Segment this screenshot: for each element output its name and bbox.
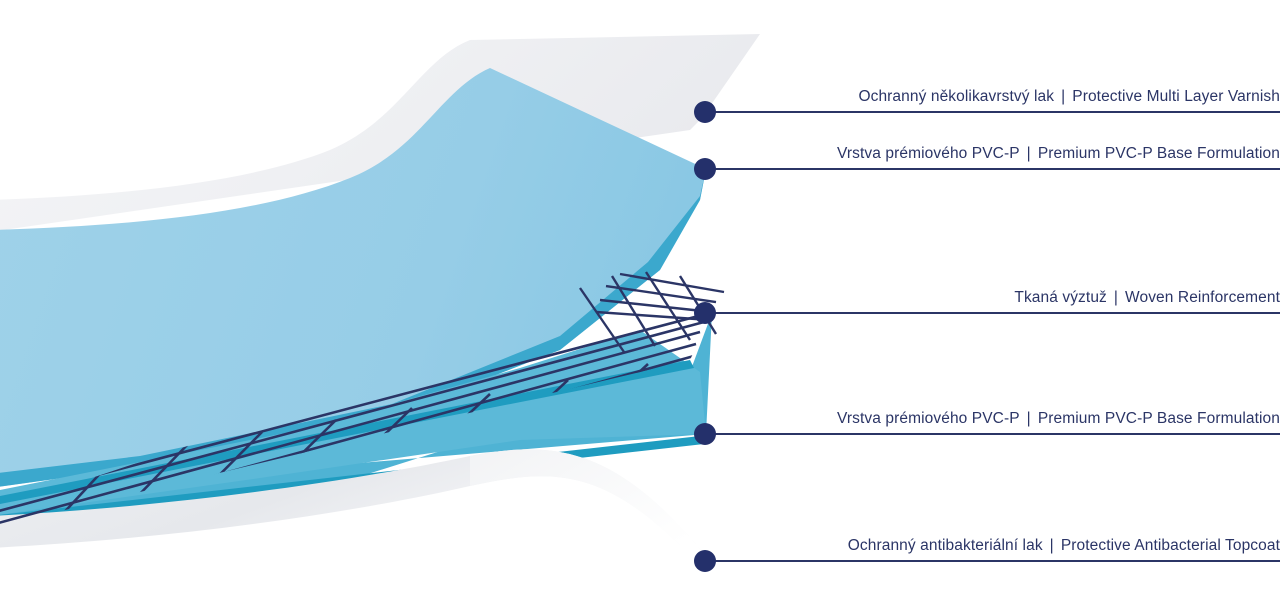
callout-label-en: Premium PVC-P Base Formulation bbox=[1038, 410, 1280, 427]
callout-label-separator: | bbox=[1020, 410, 1038, 428]
callout-dot bbox=[694, 302, 716, 324]
callout-label-en: Protective Antibacterial Topcoat bbox=[1061, 537, 1280, 554]
callout-dot bbox=[694, 423, 716, 445]
callout-leader-line bbox=[705, 560, 1280, 562]
callout-label: Ochranný antibakteriální lak|Protective … bbox=[848, 537, 1280, 555]
callout-leader-line bbox=[705, 312, 1280, 314]
callout-dot bbox=[694, 101, 716, 123]
callout-label-separator: | bbox=[1107, 289, 1125, 307]
callout-label: Tkaná výztuž|Woven Reinforcement bbox=[1014, 289, 1280, 307]
callout-label-cs: Tkaná výztuž bbox=[1014, 289, 1107, 306]
callout-label-en: Protective Multi Layer Varnish bbox=[1072, 88, 1280, 105]
callout-label-cs: Vrstva prémiového PVC-P bbox=[837, 410, 1020, 427]
callout-label-cs: Ochranný antibakteriální lak bbox=[848, 537, 1043, 554]
callout-dot bbox=[694, 550, 716, 572]
callout-label-cs: Vrstva prémiového PVC-P bbox=[837, 145, 1020, 162]
callout-label: Vrstva prémiového PVC-P|Premium PVC-P Ba… bbox=[837, 410, 1280, 428]
material-layers-diagram: Ochranný několikavrstvý lak|Protective M… bbox=[0, 0, 1280, 590]
callout-label-separator: | bbox=[1054, 88, 1072, 106]
callout-label-separator: | bbox=[1020, 145, 1038, 163]
callout-label-en: Woven Reinforcement bbox=[1125, 289, 1280, 306]
callout-label-cs: Ochranný několikavrstvý lak bbox=[858, 88, 1054, 105]
callout-leader-line bbox=[705, 433, 1280, 435]
callout-label: Ochranný několikavrstvý lak|Protective M… bbox=[858, 88, 1280, 106]
callout-leader-line bbox=[705, 111, 1280, 113]
callout-label: Vrstva prémiového PVC-P|Premium PVC-P Ba… bbox=[837, 145, 1280, 163]
layer-antibacterial-topcoat-shade bbox=[470, 449, 706, 566]
callout-leader-line bbox=[705, 168, 1280, 170]
callout-label-en: Premium PVC-P Base Formulation bbox=[1038, 145, 1280, 162]
callout-label-separator: | bbox=[1043, 537, 1061, 555]
callout-dot bbox=[694, 158, 716, 180]
